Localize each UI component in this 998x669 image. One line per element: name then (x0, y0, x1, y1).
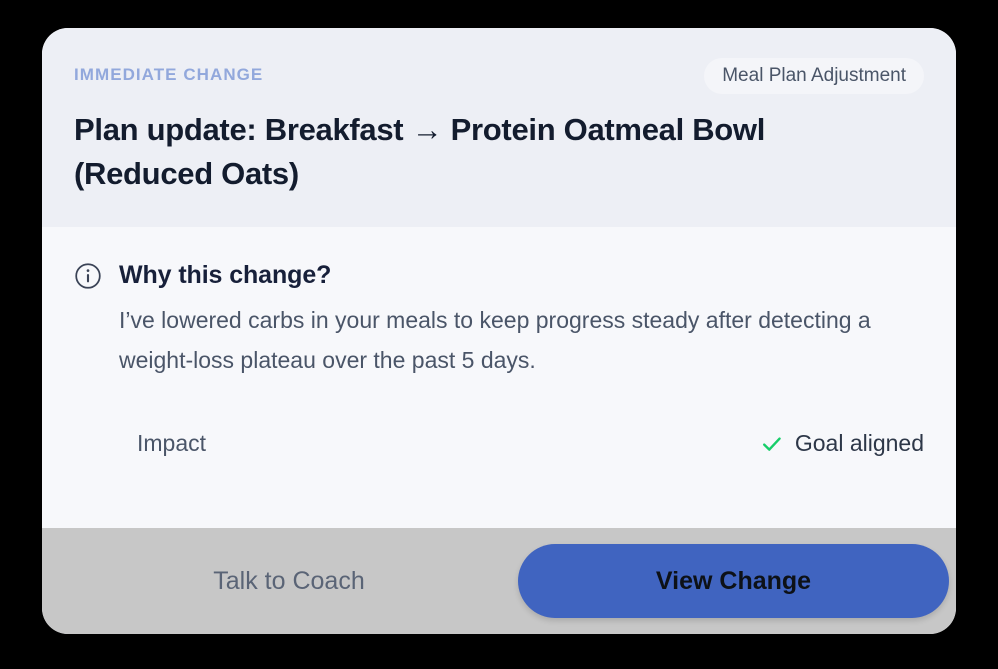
page-title: Plan update: Breakfast → Protein Oatmeal… (74, 108, 874, 196)
reason-heading: Why this change? (119, 261, 331, 290)
card-header: IMMEDIATE CHANGE Meal Plan Adjustment Pl… (42, 28, 956, 227)
header-top-row: IMMEDIATE CHANGE Meal Plan Adjustment (74, 58, 924, 94)
impact-label: Impact (137, 430, 206, 457)
eyebrow-label: IMMEDIATE CHANGE (74, 58, 263, 92)
reason-heading-row: Why this change? (74, 261, 924, 290)
card-footer: Talk to Coach View Change (42, 528, 956, 634)
info-circle-icon (74, 262, 102, 290)
talk-to-coach-button[interactable]: Talk to Coach (74, 544, 504, 618)
goal-status-label: Goal aligned (795, 430, 924, 457)
check-icon (760, 432, 784, 456)
screen-background: IMMEDIATE CHANGE Meal Plan Adjustment Pl… (0, 0, 998, 669)
status-badge: Goal aligned (760, 430, 924, 457)
plan-update-card: IMMEDIATE CHANGE Meal Plan Adjustment Pl… (42, 28, 956, 634)
impact-row: Impact Goal aligned (74, 430, 924, 457)
category-badge: Meal Plan Adjustment (704, 58, 924, 94)
view-change-button[interactable]: View Change (518, 544, 949, 618)
reason-description: I’ve lowered carbs in your meals to keep… (119, 301, 919, 380)
card-body: Why this change? I’ve lowered carbs in y… (42, 227, 956, 528)
